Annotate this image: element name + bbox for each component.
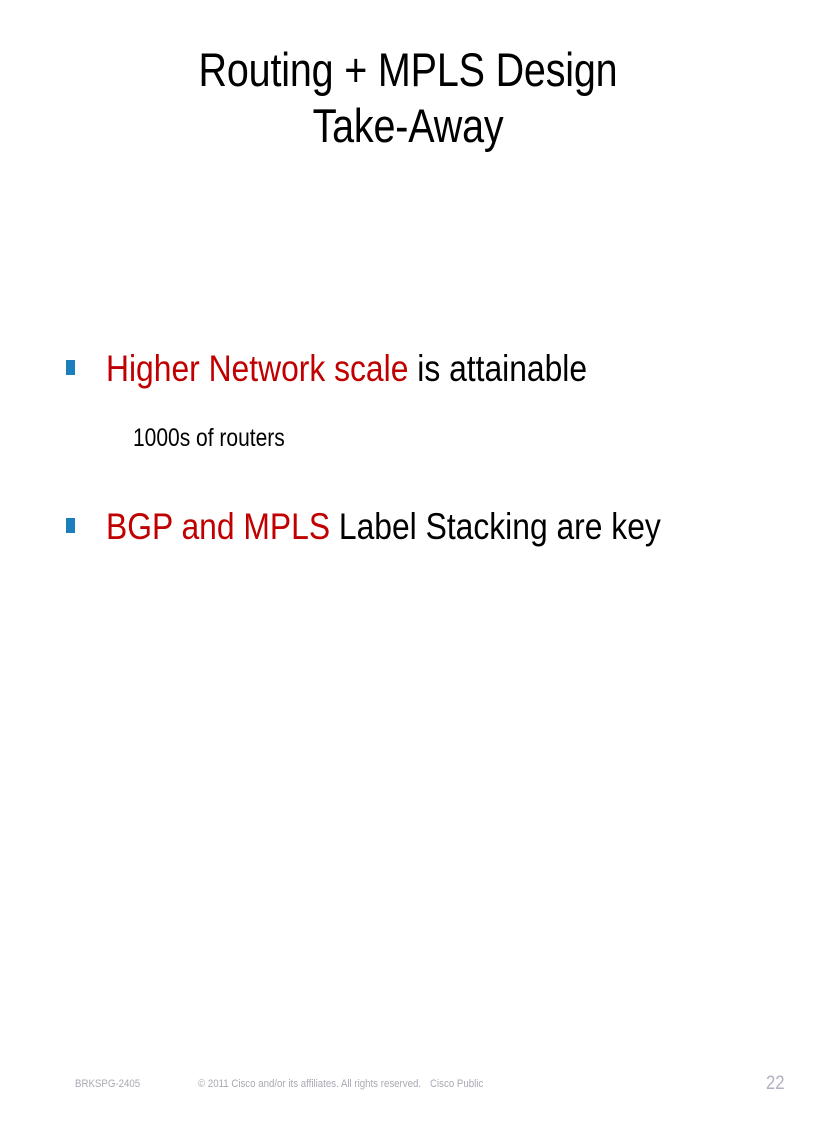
square-bullet-icon [66, 518, 75, 533]
bullet-item-2: 1000s of routers [133, 424, 314, 452]
bullet-item-1-text: Higher Network scale is attainable [106, 348, 587, 390]
bullet-item-3-text: BGP and MPLS Label Stacking are key [106, 506, 661, 548]
bullet-item-3: BGP and MPLS Label Stacking are key [66, 506, 751, 548]
slide: Routing + MPLS Design Take-Away Higher N… [0, 0, 816, 1123]
slide-footer: BRKSPG-2405 © 2011 Cisco and/or its affi… [0, 1063, 816, 1123]
slide-body: Higher Network scale is attainable 1000s… [0, 0, 816, 1123]
bullet-item-1-plain: is attainable [408, 348, 587, 389]
page-number: 22 [766, 1073, 785, 1095]
footer-copyright: © 2011 Cisco and/or its affiliates. All … [198, 1077, 421, 1091]
bullet-item-1: Higher Network scale is attainable [66, 348, 665, 390]
bullet-item-1-accent: Higher Network scale [106, 348, 408, 389]
footer-classification: Cisco Public [430, 1077, 483, 1091]
bullet-item-3-plain: Label Stacking are key [330, 506, 661, 547]
footer-session-id: BRKSPG-2405 [75, 1077, 140, 1091]
square-bullet-icon [66, 360, 75, 375]
bullet-item-2-text: 1000s of routers [133, 424, 285, 452]
bullet-item-3-accent: BGP and MPLS [106, 506, 330, 547]
